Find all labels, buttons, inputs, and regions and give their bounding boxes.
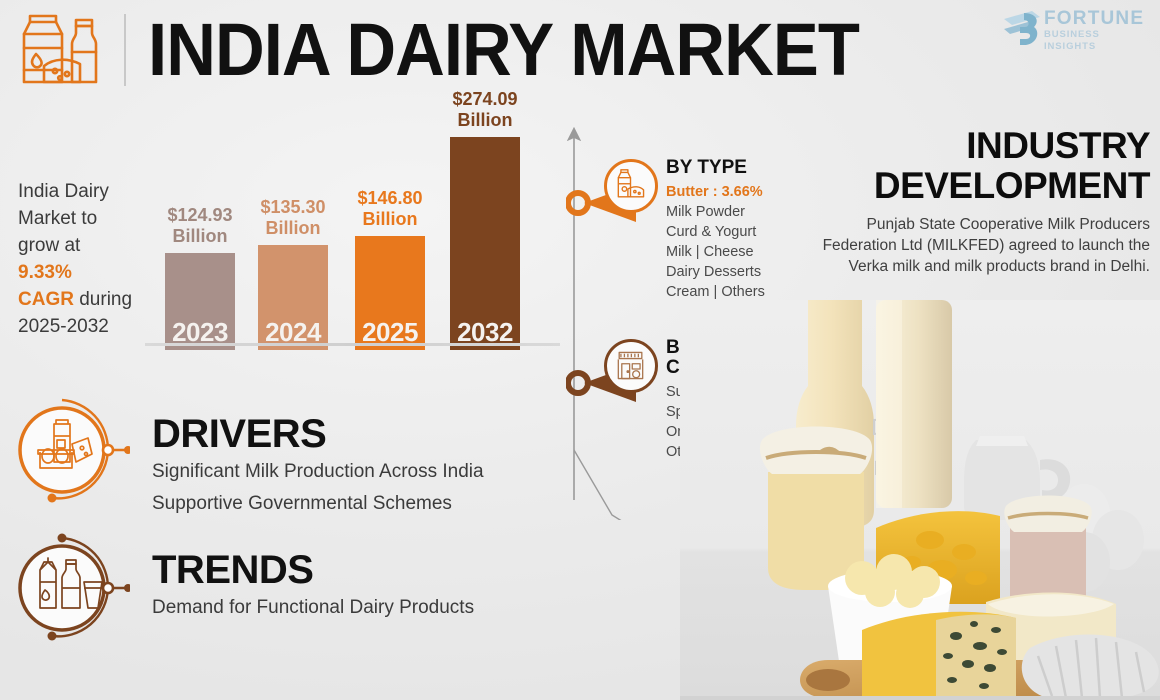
blurb-line-1: India Dairy xyxy=(18,181,109,202)
bar-unit-label: Billion xyxy=(434,110,536,131)
chart-baseline xyxy=(145,343,560,346)
fb-monogram-icon xyxy=(1002,9,1042,49)
bar: 2025 xyxy=(355,236,425,350)
by-type-item-5: Cream | Others xyxy=(666,282,846,302)
bar-value-group: $146.80Billion xyxy=(339,188,441,230)
forecast-period: 2025-2032 xyxy=(18,316,109,337)
page-title: INDIA DAIRY MARKET xyxy=(148,6,892,94)
bar: 2024 xyxy=(258,245,328,350)
trends-block: TRENDS Demand for Functional Dairy Produ… xyxy=(152,548,572,624)
bar-value-group: $135.30Billion xyxy=(242,197,344,239)
bar-group: 2023$124.93Billion xyxy=(165,253,235,350)
header-divider xyxy=(124,14,126,86)
bar-value-group: $124.93Billion xyxy=(149,205,251,247)
industry-development-body: Punjab State Cooperative Milk Producers … xyxy=(810,214,1150,277)
dairy-products-icon xyxy=(10,8,110,90)
during-text: during xyxy=(74,289,132,310)
blurb-line-2: Market to xyxy=(18,208,97,229)
drivers-line-1: Supportive Governmental Schemes xyxy=(152,488,572,520)
drivers-line-0: Significant Milk Production Across India xyxy=(152,456,572,488)
cagr-label: CAGR xyxy=(18,289,74,310)
industry-title-line1: INDUSTRY xyxy=(810,126,1150,166)
trends-icon-badge xyxy=(10,530,130,650)
logo-subtitle: BUSINESS INSIGHTS xyxy=(1044,29,1154,53)
infographic-canvas: INDIA DAIRY MARKET FORTUNE BUSINESS INSI… xyxy=(0,0,1160,700)
bar-unit-label: Billion xyxy=(149,226,251,247)
bar-unit-label: Billion xyxy=(339,209,441,230)
bar: 2032 xyxy=(450,137,520,350)
logo-name: FORTUNE xyxy=(1044,9,1154,29)
market-growth-blurb: India Dairy Market to grow at 9.33% CAGR… xyxy=(18,178,148,340)
bar-value-label: $146.80 xyxy=(339,188,441,209)
cagr-value: 9.33% xyxy=(18,262,72,283)
trends-line-0: Demand for Functional Dairy Products xyxy=(152,592,572,624)
milk-carton-cheese-icon xyxy=(607,162,654,209)
bar-value-label: $135.30 xyxy=(242,197,344,218)
bar-value-group: $274.09Billion xyxy=(434,89,536,131)
drivers-block: DRIVERS Significant Milk Production Acro… xyxy=(152,412,572,520)
bar-value-label: $124.93 xyxy=(149,205,251,226)
dairy-products-photo xyxy=(680,300,1160,700)
bar-group: 2032$274.09Billion xyxy=(450,137,520,350)
drivers-title: DRIVERS xyxy=(152,412,572,456)
blurb-line-3: grow at xyxy=(18,235,80,256)
bar-value-label: $274.09 xyxy=(434,89,536,110)
drivers-icon-badge xyxy=(10,392,130,512)
market-size-bar-chart: 2023$124.93Billion2024$135.30Billion2025… xyxy=(150,110,560,350)
bar-group: 2024$135.30Billion xyxy=(258,245,328,350)
industry-development-block: INDUSTRY DEVELOPMENT Punjab State Cooper… xyxy=(810,126,1150,277)
storefront-icon xyxy=(607,342,654,389)
industry-title-line2: DEVELOPMENT xyxy=(810,166,1150,206)
by-type-icon-ring xyxy=(604,159,658,213)
by-distribution-channel-icon-ring xyxy=(604,339,658,393)
bar: 2023 xyxy=(165,253,235,350)
fortune-business-insights-logo: FORTUNE BUSINESS INSIGHTS xyxy=(1002,8,1154,50)
trends-title: TRENDS xyxy=(152,548,572,592)
bar-unit-label: Billion xyxy=(242,218,344,239)
bar-group: 2025$146.80Billion xyxy=(355,236,425,350)
